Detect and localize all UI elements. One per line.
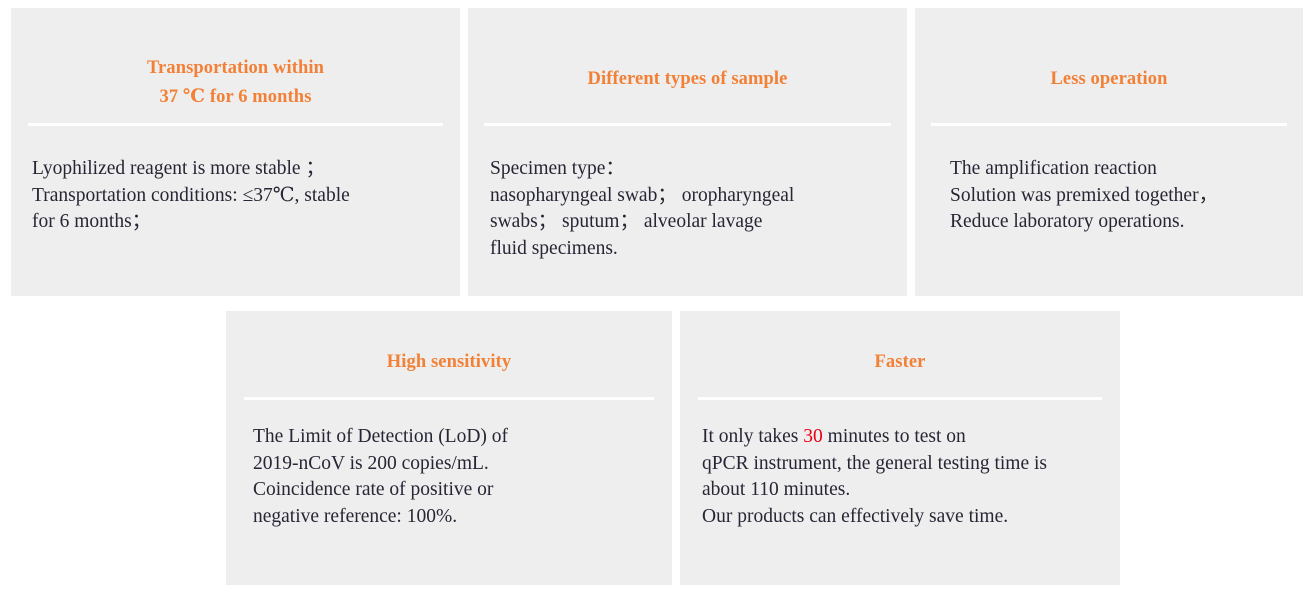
card-body-high-sensitivity: The Limit of Detection (LoD) of 2019-nCo… [253, 424, 664, 531]
card-title-transportation: Transportation within 37 ℃ for 6 months [11, 8, 460, 111]
card-divider-transportation [28, 123, 443, 126]
card-divider-high-sensitivity [244, 397, 654, 400]
feature-card-high-sensitivity: High sensitivity The Limit of Detection … [226, 311, 672, 585]
card-body-faster-highlight-minutes: 30 [803, 426, 823, 447]
feature-card-faster: Faster It only takes 30 minutes to test … [680, 311, 1120, 585]
feature-cards-board: Transportation within 37 ℃ for 6 months … [0, 0, 1314, 596]
feature-card-transportation: Transportation within 37 ℃ for 6 months … [11, 8, 460, 296]
feature-card-less-operation: Less operation The amplification reactio… [915, 8, 1303, 296]
card-divider-faster [698, 397, 1102, 400]
card-body-less-operation: The amplification reaction Solution was … [950, 156, 1295, 236]
card-title-less-operation: Less operation [915, 8, 1303, 94]
card-divider-less-operation [931, 123, 1287, 126]
card-title-faster: Faster [680, 311, 1120, 377]
card-title-sample-types: Different types of sample [468, 8, 907, 94]
card-divider-sample-types [484, 123, 891, 126]
card-body-faster-part1: It only takes [702, 426, 803, 447]
card-body-transportation: Lyophilized reagent is more stable ； Tra… [32, 156, 450, 236]
card-title-high-sensitivity: High sensitivity [226, 311, 672, 377]
card-body-faster: It only takes 30 minutes to test on qPCR… [702, 424, 1116, 531]
feature-card-sample-types: Different types of sample Specimen type：… [468, 8, 907, 296]
card-body-sample-types: Specimen type： nasopharyngeal swab； orop… [490, 156, 899, 263]
